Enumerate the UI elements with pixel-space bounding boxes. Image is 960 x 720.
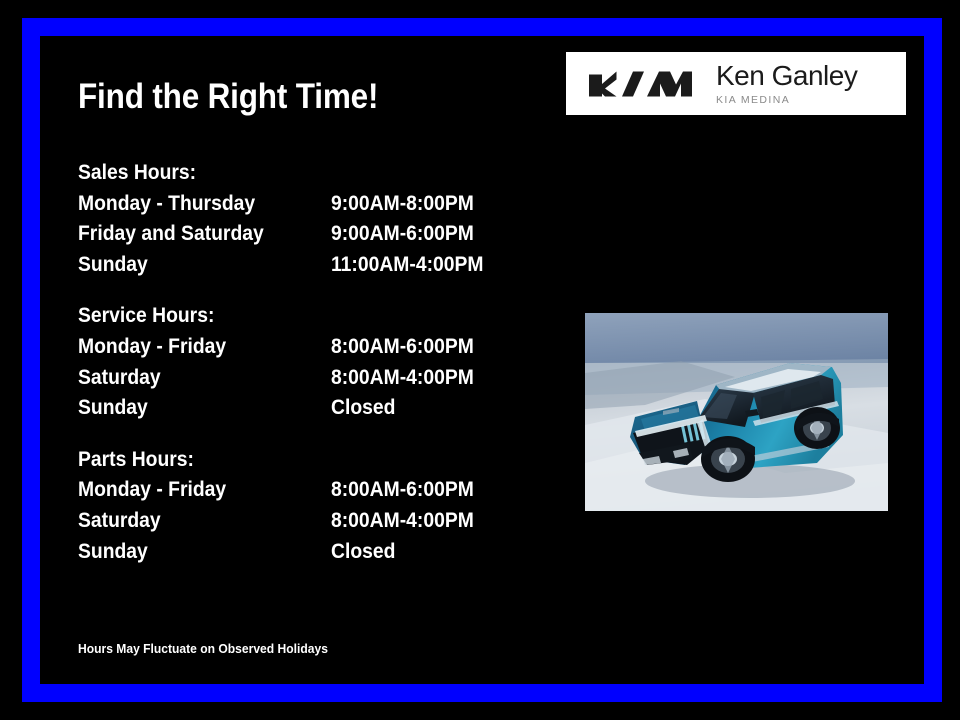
section-heading: Sales Hours:: [78, 158, 501, 189]
hours-row-day: Sunday: [78, 393, 331, 424]
hours-row-time: 11:00AM-4:00PM: [331, 250, 501, 281]
kia-logo-icon: [582, 69, 698, 99]
hours-row: Monday - Friday 8:00AM-6:00PM: [78, 332, 501, 363]
hours-row: Sunday Closed: [78, 393, 501, 424]
section-heading: Parts Hours:: [78, 445, 501, 476]
hours-row-day: Friday and Saturday: [78, 219, 331, 250]
hours-row-time: Closed: [331, 393, 501, 424]
dealer-name: Ken Ganley: [716, 62, 857, 90]
hours-row-time: 8:00AM-4:00PM: [331, 363, 501, 394]
hours-row: Saturday 8:00AM-4:00PM: [78, 363, 501, 394]
hours-row-day: Monday - Thursday: [78, 189, 331, 220]
dealer-logo-card: Ken Ganley KIA MEDINA: [566, 52, 906, 115]
hours-row-time: 8:00AM-6:00PM: [331, 332, 501, 363]
hours-row-time: 9:00AM-8:00PM: [331, 189, 501, 220]
hours-section-service: Service Hours: Monday - Friday 8:00AM-6:…: [78, 301, 538, 423]
hours-section-parts: Parts Hours: Monday - Friday 8:00AM-6:00…: [78, 445, 538, 567]
hours-row-day: Sunday: [78, 537, 331, 568]
dealer-name-block: Ken Ganley KIA MEDINA: [716, 62, 857, 106]
hours-row: Friday and Saturday 9:00AM-6:00PM: [78, 219, 501, 250]
hours-row-time: 8:00AM-4:00PM: [331, 506, 501, 537]
hours-row: Sunday Closed: [78, 537, 501, 568]
page-title: Find the Right Time!: [78, 79, 378, 116]
vehicle-photo: [585, 313, 888, 511]
holiday-disclaimer: Hours May Fluctuate on Observed Holidays: [78, 641, 328, 656]
hours-row-day: Sunday: [78, 250, 331, 281]
dealer-subtitle: KIA MEDINA: [716, 95, 857, 106]
hours-row: Saturday 8:00AM-4:00PM: [78, 506, 501, 537]
hours-row: Monday - Thursday 9:00AM-8:00PM: [78, 189, 501, 220]
hours-row: Sunday 11:00AM-4:00PM: [78, 250, 501, 281]
hours-row: Monday - Friday 8:00AM-6:00PM: [78, 475, 501, 506]
hours-row-time: 8:00AM-6:00PM: [331, 475, 501, 506]
hours-section-sales: Sales Hours: Monday - Thursday 9:00AM-8:…: [78, 158, 538, 280]
hours-row-time: Closed: [331, 537, 501, 568]
hours-row-day: Saturday: [78, 506, 331, 537]
section-heading: Service Hours:: [78, 301, 501, 332]
hours-row-day: Monday - Friday: [78, 475, 331, 506]
hours-row-time: 9:00AM-6:00PM: [331, 219, 501, 250]
hours-row-day: Saturday: [78, 363, 331, 394]
hours-list: Sales Hours: Monday - Thursday 9:00AM-8:…: [78, 158, 538, 567]
slide-canvas: Find the Right Time! Sales Hours: Monday…: [0, 0, 960, 720]
hours-row-day: Monday - Friday: [78, 332, 331, 363]
